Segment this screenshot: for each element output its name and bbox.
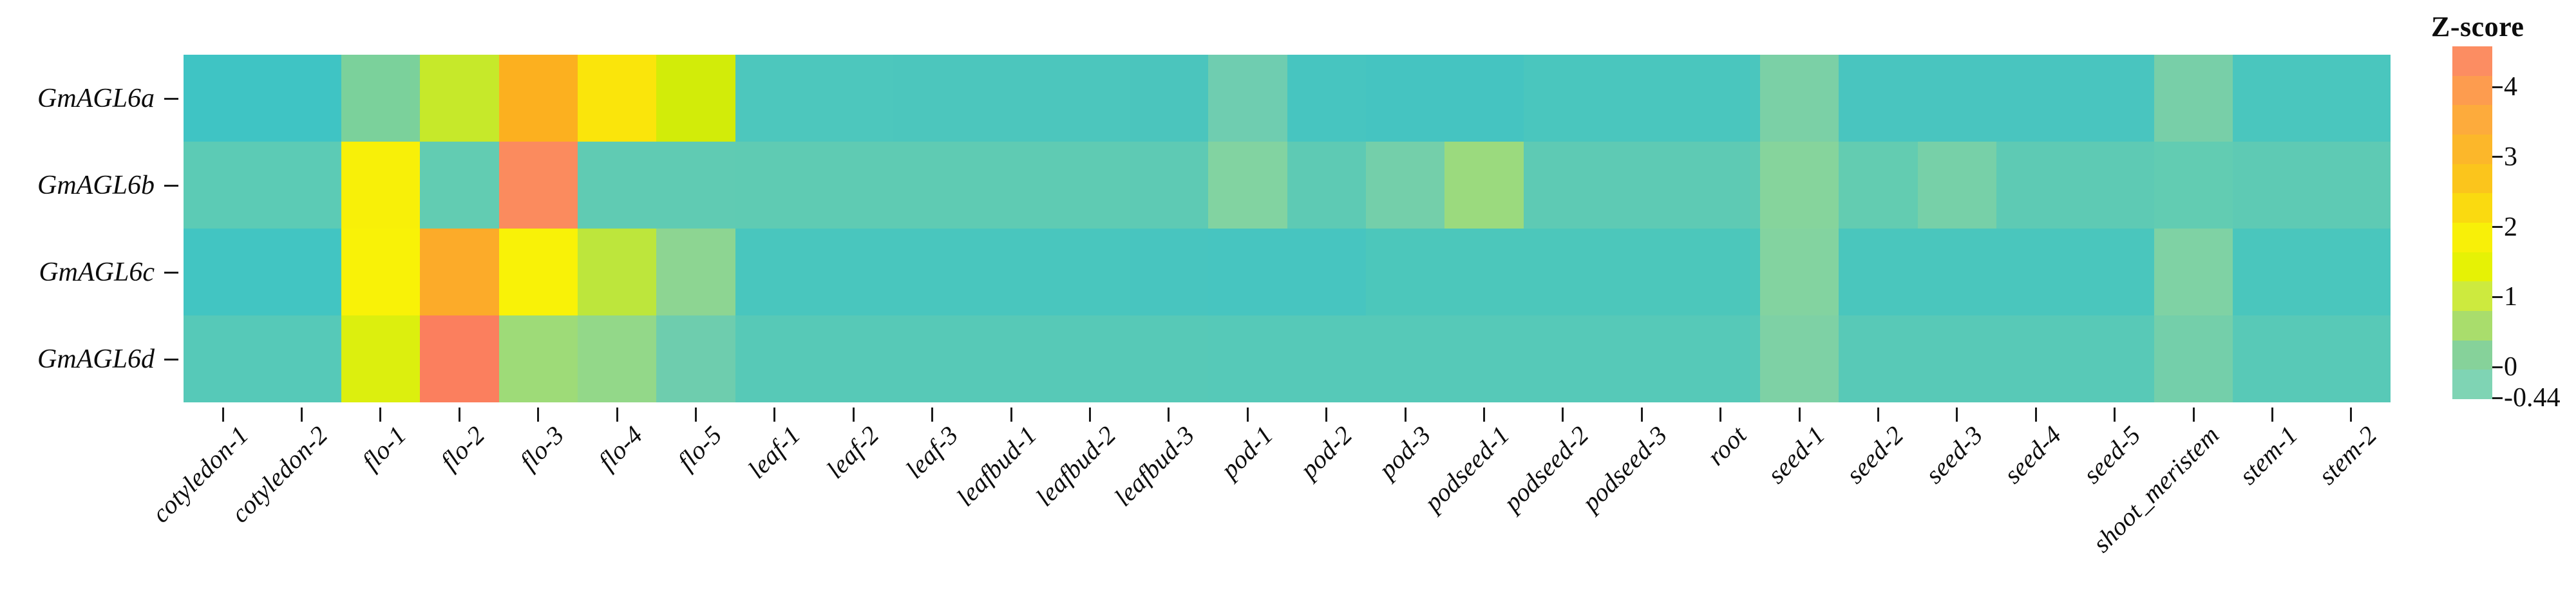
colorbar-tick-dash — [2492, 296, 2503, 298]
heatmap-cell — [814, 315, 893, 402]
y-axis-labels: GmAGL6aGmAGL6bGmAGL6cGmAGL6d — [0, 55, 184, 402]
heatmap-cell — [656, 229, 735, 315]
x-axis-label: leaf-1 — [742, 420, 806, 484]
heatmap-cell — [972, 315, 1050, 402]
heatmap-cell — [499, 55, 578, 142]
heatmap-cell — [1681, 55, 1759, 142]
y-axis-label: GmAGL6d — [0, 315, 155, 402]
y-axis-label: GmAGL6a — [0, 55, 155, 142]
heatmap-cell — [1208, 229, 1287, 315]
heatmap-cell — [1760, 142, 1839, 229]
heatmap-cell — [1839, 55, 1917, 142]
heatmap-cell — [420, 315, 498, 402]
colorbar-tick: -0.44 — [2492, 382, 2561, 413]
heatmap-cell — [2075, 229, 2154, 315]
heatmap-cell — [2154, 142, 2233, 229]
heatmap-cell — [972, 229, 1050, 315]
heatmap-cell — [578, 229, 656, 315]
heatmap-cell — [1366, 142, 1444, 229]
heatmap-cell — [1130, 229, 1208, 315]
heatmap-cell — [1760, 315, 1839, 402]
heatmap-cell — [972, 142, 1050, 229]
colorbar-tick-label: 3 — [2504, 142, 2517, 173]
heatmap-cell — [499, 315, 578, 402]
heatmap-cell — [1287, 55, 1366, 142]
heatmap-cell — [735, 142, 814, 229]
y-axis-tick — [164, 98, 178, 100]
y-axis-tick — [164, 359, 178, 361]
heatmap-cell — [1050, 315, 1129, 402]
heatmap-cell — [2233, 55, 2311, 142]
x-axis-label: seed-4 — [1998, 420, 2067, 489]
heatmap-cell — [814, 55, 893, 142]
heatmap-cell — [1524, 142, 1602, 229]
x-axis-label: flo-1 — [355, 420, 412, 476]
colorbar-tick-label: -0.44 — [2504, 382, 2561, 413]
heatmap-cell — [1524, 55, 1602, 142]
heatmap-cell — [1444, 142, 1523, 229]
colorbar-tick: 1 — [2492, 281, 2517, 312]
heatmap-figure: GmAGL6aGmAGL6bGmAGL6cGmAGL6d cotyledon-1… — [0, 0, 2576, 600]
heatmap-cell — [262, 229, 341, 315]
heatmap-cell — [184, 55, 262, 142]
heatmap-cell — [1602, 315, 1681, 402]
heatmap-cell — [1681, 315, 1759, 402]
heatmap-cell — [656, 142, 735, 229]
heatmap-cell — [1050, 55, 1129, 142]
x-axis-label: podseed-1 — [1418, 420, 1515, 517]
heatmap-cell — [499, 229, 578, 315]
heatmap-cell — [1208, 315, 1287, 402]
heatmap-cell — [1918, 55, 1996, 142]
heatmap-cell — [814, 142, 893, 229]
heatmap-cell — [1524, 229, 1602, 315]
x-axis-label: seed-3 — [1919, 420, 1989, 489]
colorbar-tick: 3 — [2492, 142, 2517, 173]
heatmap-cell — [1366, 55, 1444, 142]
heatmap-cell — [262, 55, 341, 142]
x-axis-label: pod-2 — [1294, 420, 1358, 484]
heatmap-cell — [2075, 55, 2154, 142]
y-axis-label: GmAGL6c — [0, 229, 155, 315]
heatmap-cell — [1602, 55, 1681, 142]
heatmap-cell — [184, 315, 262, 402]
heatmap-cell — [735, 229, 814, 315]
heatmap-cell — [1287, 315, 1366, 402]
colorbar-tick: 2 — [2492, 212, 2517, 243]
colorbar-tick-dash — [2492, 86, 2503, 88]
x-axis-label: podseed-2 — [1497, 420, 1595, 517]
heatmap-cell — [2233, 229, 2311, 315]
heatmap-cell — [1050, 142, 1129, 229]
heatmap-cell — [2075, 142, 2154, 229]
heatmap-cell — [1996, 229, 2075, 315]
x-axis-label: seed-5 — [2077, 420, 2146, 489]
heatmap-cell — [2233, 142, 2311, 229]
x-axis-label: flo-3 — [513, 420, 570, 476]
heatmap-cell — [184, 142, 262, 229]
heatmap-cell — [1444, 315, 1523, 402]
heatmap-cell — [1130, 142, 1208, 229]
colorbar-tick-dash — [2492, 397, 2503, 399]
x-axis-label: leafbud-3 — [1108, 420, 1201, 512]
heatmap-cell — [1918, 315, 1996, 402]
heatmap-cell — [1760, 55, 1839, 142]
heatmap-cell — [1287, 142, 1366, 229]
heatmap-cell — [1602, 229, 1681, 315]
heatmap-cell — [1524, 315, 1602, 402]
colorbar-tick-label: 2 — [2504, 212, 2517, 243]
colorbar-tick-dash — [2492, 226, 2503, 228]
heatmap-cell — [1918, 142, 1996, 229]
heatmap-cell — [1287, 229, 1366, 315]
x-axis-label: flo-4 — [592, 420, 649, 476]
heatmap-cell — [735, 315, 814, 402]
heatmap-cell — [499, 142, 578, 229]
colorbar-tick-label: 1 — [2504, 281, 2517, 312]
heatmap-cell — [1839, 142, 1917, 229]
heatmap-cell — [1996, 315, 2075, 402]
heatmap-cell — [2154, 315, 2233, 402]
y-axis-label: GmAGL6b — [0, 142, 155, 229]
heatmap-cell — [262, 142, 341, 229]
x-axis-label: stem-2 — [2312, 420, 2383, 491]
heatmap-cell — [578, 55, 656, 142]
heatmap-cell — [656, 315, 735, 402]
heatmap-cell — [1681, 142, 1759, 229]
colorbar-tick: 0 — [2492, 352, 2517, 382]
colorbar-tick-dash — [2492, 366, 2503, 368]
heatmap-cell — [420, 142, 498, 229]
heatmap-cell — [2312, 142, 2391, 229]
heatmap-cell — [1130, 315, 1208, 402]
heatmap-cell — [1050, 229, 1129, 315]
x-axis-label: leafbud-2 — [1029, 420, 1122, 512]
heatmap-cell — [2312, 229, 2391, 315]
heatmap-cell — [1996, 142, 2075, 229]
heatmap-cell — [1602, 142, 1681, 229]
heatmap-cell — [1681, 229, 1759, 315]
heatmap-cell — [2312, 315, 2391, 402]
heatmap-cell — [420, 55, 498, 142]
heatmap-cell — [893, 142, 972, 229]
x-axis-label: flo-5 — [671, 420, 728, 476]
x-axis-label: leaf-2 — [820, 420, 885, 484]
heatmap-cell — [1839, 229, 1917, 315]
heatmap-cell — [420, 229, 498, 315]
heatmap-cell — [814, 229, 893, 315]
x-axis-label: seed-2 — [1840, 420, 1909, 489]
heatmap-grid — [184, 55, 2391, 402]
heatmap-cell — [578, 142, 656, 229]
heatmap-cell — [1366, 229, 1444, 315]
heatmap-cell — [1444, 229, 1523, 315]
heatmap-cell — [341, 142, 420, 229]
heatmap-cell — [656, 55, 735, 142]
colorbar-tick: 4 — [2492, 71, 2517, 102]
heatmap-cell — [1839, 315, 1917, 402]
heatmap-cell — [972, 55, 1050, 142]
heatmap-cell — [1444, 55, 1523, 142]
heatmap-cell — [1208, 55, 1287, 142]
heatmap-cell — [2312, 55, 2391, 142]
colorbar-tick-dash — [2492, 156, 2503, 158]
x-axis-ticks — [184, 402, 2391, 418]
x-axis-label: pod-1 — [1215, 420, 1279, 484]
x-axis-label: podseed-3 — [1576, 420, 1673, 517]
heatmap-cell — [2233, 315, 2311, 402]
heatmap-cell — [1208, 142, 1287, 229]
heatmap-cell — [341, 315, 420, 402]
heatmap-cell — [1760, 229, 1839, 315]
heatmap-cell — [1366, 315, 1444, 402]
heatmap-cell — [578, 315, 656, 402]
heatmap-cell — [2154, 55, 2233, 142]
heatmap-cell — [1130, 55, 1208, 142]
heatmap-cell — [893, 229, 972, 315]
colorbar-tick-label: 0 — [2504, 352, 2517, 382]
x-axis-label: leafbud-1 — [951, 420, 1043, 512]
y-axis-tick — [164, 272, 178, 274]
heatmap-cell — [184, 229, 262, 315]
heatmap-cell — [2154, 229, 2233, 315]
y-axis-tick — [164, 185, 178, 187]
x-axis-label: pod-3 — [1372, 420, 1437, 484]
heatmap-cell — [893, 315, 972, 402]
x-axis-label: seed-1 — [1761, 420, 1831, 489]
heatmap-cell — [1918, 229, 1996, 315]
x-axis-label: root — [1701, 420, 1752, 471]
heatmap-cell — [893, 55, 972, 142]
x-axis-labels: cotyledon-1cotyledon-2flo-1flo-2flo-3flo… — [184, 420, 2391, 600]
heatmap-cell — [262, 315, 341, 402]
colorbar-tick-label: 4 — [2504, 71, 2517, 102]
colorbar-title: Z-score — [2431, 10, 2524, 43]
x-axis-label: flo-2 — [435, 420, 491, 476]
heatmap-cell — [2075, 315, 2154, 402]
x-axis-label: stem-1 — [2233, 420, 2304, 491]
heatmap-cell — [735, 55, 814, 142]
colorbar-ticks: 43210-0.44 — [2452, 46, 2568, 399]
heatmap-cell — [341, 55, 420, 142]
heatmap-cell — [1996, 55, 2075, 142]
x-axis-label: leaf-3 — [899, 420, 963, 484]
heatmap-cell — [341, 229, 420, 315]
